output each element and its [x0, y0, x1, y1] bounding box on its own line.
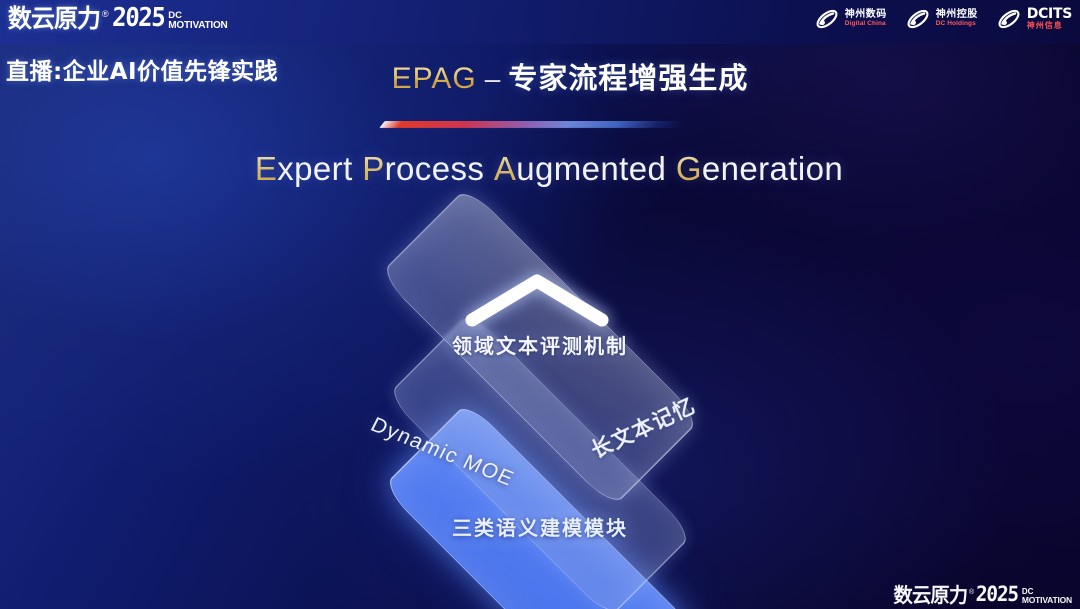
partner-name-cn: 神州信息 — [1027, 21, 1072, 31]
watermark-dc-motivation: DC MOTIVATION — [1022, 588, 1072, 604]
slide-title-abbreviation: EPAG — [392, 62, 477, 95]
subtitle-word-process: rocess — [385, 150, 485, 187]
slide-title-chinese: 专家流程增强生成 — [508, 61, 748, 95]
brand-logo: 数云原力 ® 2025 DC MOTIVATION — [6, 5, 228, 31]
partner-logo-dc-holdings: 神州控股 DC Holdings — [905, 6, 978, 32]
brand-dc-motivation: DC MOTIVATION — [168, 11, 227, 30]
subtitle-word-expert: xpert — [277, 150, 352, 187]
brand-registered-mark: ® — [102, 9, 109, 19]
watermark-dc-line2: MOTIVATION — [1022, 596, 1072, 604]
partner-text: DCITS 神州信息 — [1027, 7, 1072, 31]
slide-canvas: 数云原力 ® 2025 DC MOTIVATION 直播:企业AI价值先锋实践 … — [0, 0, 1080, 609]
watermark-name-cn: 数云原力 — [894, 585, 968, 605]
slide-title-dash: – — [485, 63, 501, 94]
subtitle-word-generation: eneration — [702, 150, 843, 187]
swirl-logo-icon — [814, 6, 840, 32]
chevron-up-icon — [463, 270, 611, 332]
stack-label-bottom: 三类语义建模模块 — [0, 512, 1080, 541]
watermark-registered-mark: ® — [969, 589, 974, 596]
subtitle-space-3 — [666, 150, 676, 187]
live-stream-title: 直播:企业AI价值先锋实践 — [6, 52, 278, 86]
partner-logo-group: 神州数码 Digital China 神州控股 DC Holdings — [814, 6, 1072, 32]
partner-text: 神州数码 Digital China — [845, 10, 887, 27]
subtitle-initial-g: G — [676, 150, 702, 187]
partner-logo-digital-china: 神州数码 Digital China — [814, 6, 887, 32]
subtitle-initial-e: E — [255, 150, 277, 187]
brand-dc-line2: MOTIVATION — [168, 21, 227, 31]
subtitle-space-1 — [353, 150, 363, 187]
subtitle-initial-p: P — [362, 150, 384, 187]
partner-text: 神州控股 DC Holdings — [936, 10, 978, 27]
swirl-logo-icon — [905, 6, 931, 32]
partner-name-en: Digital China — [845, 21, 887, 28]
subtitle-initial-a: A — [494, 150, 516, 187]
brand-year: 2025 — [111, 5, 164, 31]
brand-name-cn: 数云原力 — [8, 6, 100, 31]
footer-watermark-logo: 数云原力 ® 2025 DC MOTIVATION — [892, 584, 1072, 605]
subtitle-space-2 — [484, 150, 494, 187]
stack-label-top: 领域文本评测机制 — [0, 330, 1080, 359]
partner-logo-dcits: DCITS 神州信息 — [996, 6, 1072, 32]
swirl-logo-icon — [996, 6, 1022, 32]
title-divider — [379, 121, 684, 128]
partner-name-en: DCITS — [1027, 7, 1072, 21]
subtitle-word-augmented: ugmented — [516, 150, 666, 187]
partner-name-en: DC Holdings — [936, 21, 978, 28]
slide-subtitle: Expert Process Augmented Generation — [0, 150, 1080, 188]
watermark-year: 2025 — [975, 584, 1018, 605]
